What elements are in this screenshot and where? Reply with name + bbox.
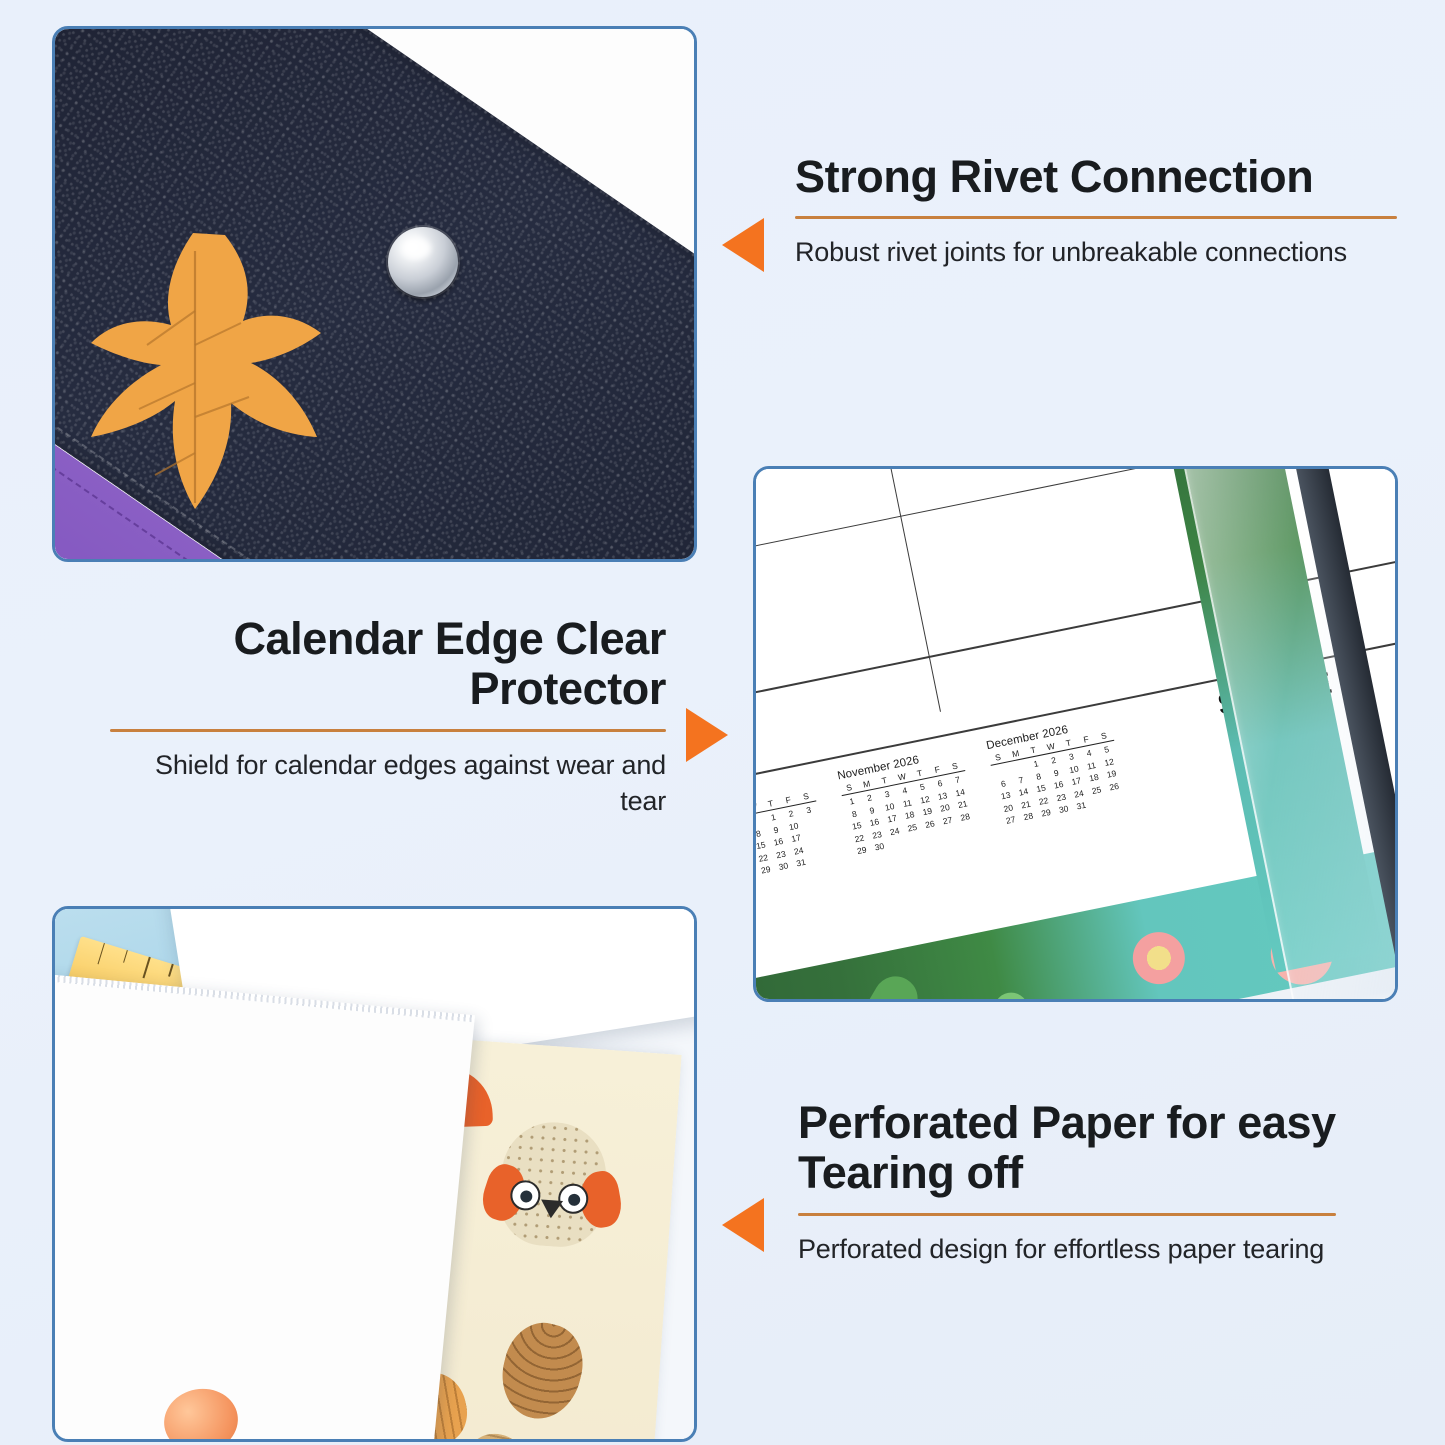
arrow-left-icon-perforated bbox=[722, 1198, 764, 1252]
torn-white-page-front bbox=[55, 972, 476, 1439]
perforated-photo-stage: S E P bbox=[55, 909, 694, 1439]
perforated-paper-photo: S E P bbox=[52, 906, 697, 1442]
oak-leaf-illustration bbox=[52, 225, 373, 555]
title-divider-rule bbox=[798, 1213, 1336, 1216]
arrow-right-icon-protector bbox=[686, 708, 728, 762]
owl-illustration bbox=[497, 1119, 609, 1250]
metal-rivet bbox=[388, 227, 458, 297]
pinecone-illustration bbox=[492, 1314, 591, 1426]
feature-text-rivet: Strong Rivet Connection Robust rivet joi… bbox=[795, 152, 1397, 271]
feature-description-perforated: Perforated design for effortless paper t… bbox=[798, 1232, 1336, 1268]
feature-title-perforated: Perforated Paper for easy Tearing off bbox=[798, 1098, 1336, 1199]
arrow-left-icon-rivet bbox=[722, 218, 764, 272]
feature-text-perforated: Perforated Paper for easy Tearing off Pe… bbox=[798, 1098, 1336, 1268]
calendar-photo-stage: ober 2026 TWTFS 123678910131415161719202… bbox=[756, 469, 1395, 999]
feature-title-protector: Calendar Edge Clear Protector bbox=[110, 614, 666, 715]
mini-calendar-october: ober 2026 TWTFS 123678910131415161719202… bbox=[756, 775, 828, 887]
mini-calendar-december: December 2026 SMTWTFS 123456789101112131… bbox=[985, 715, 1126, 827]
mini-calendar-november: November 2026 SMTWTFS 123456789101112131… bbox=[836, 745, 977, 857]
mini-calendar-days: 1236789101314151617192021222324262728293… bbox=[756, 801, 828, 887]
feature-description-rivet: Robust rivet joints for unbreakable conn… bbox=[795, 235, 1397, 271]
acorn-illustration bbox=[462, 1428, 530, 1439]
feature-text-protector: Calendar Edge Clear Protector Shield for… bbox=[110, 614, 666, 820]
mini-calendars-row: ober 2026 TWTFS 123678910131415161719202… bbox=[756, 715, 1126, 887]
calendar-edge-protector-photo: ober 2026 TWTFS 123678910131415161719202… bbox=[753, 466, 1398, 1002]
rivet-closeup-photo bbox=[52, 26, 697, 562]
rivet-photo-stage bbox=[55, 29, 694, 559]
feature-description-protector: Shield for calendar edges against wear a… bbox=[110, 748, 666, 820]
feature-title-rivet: Strong Rivet Connection bbox=[795, 152, 1397, 202]
title-divider-rule bbox=[795, 216, 1397, 219]
title-divider-rule bbox=[110, 729, 666, 732]
grid-line bbox=[861, 469, 941, 712]
